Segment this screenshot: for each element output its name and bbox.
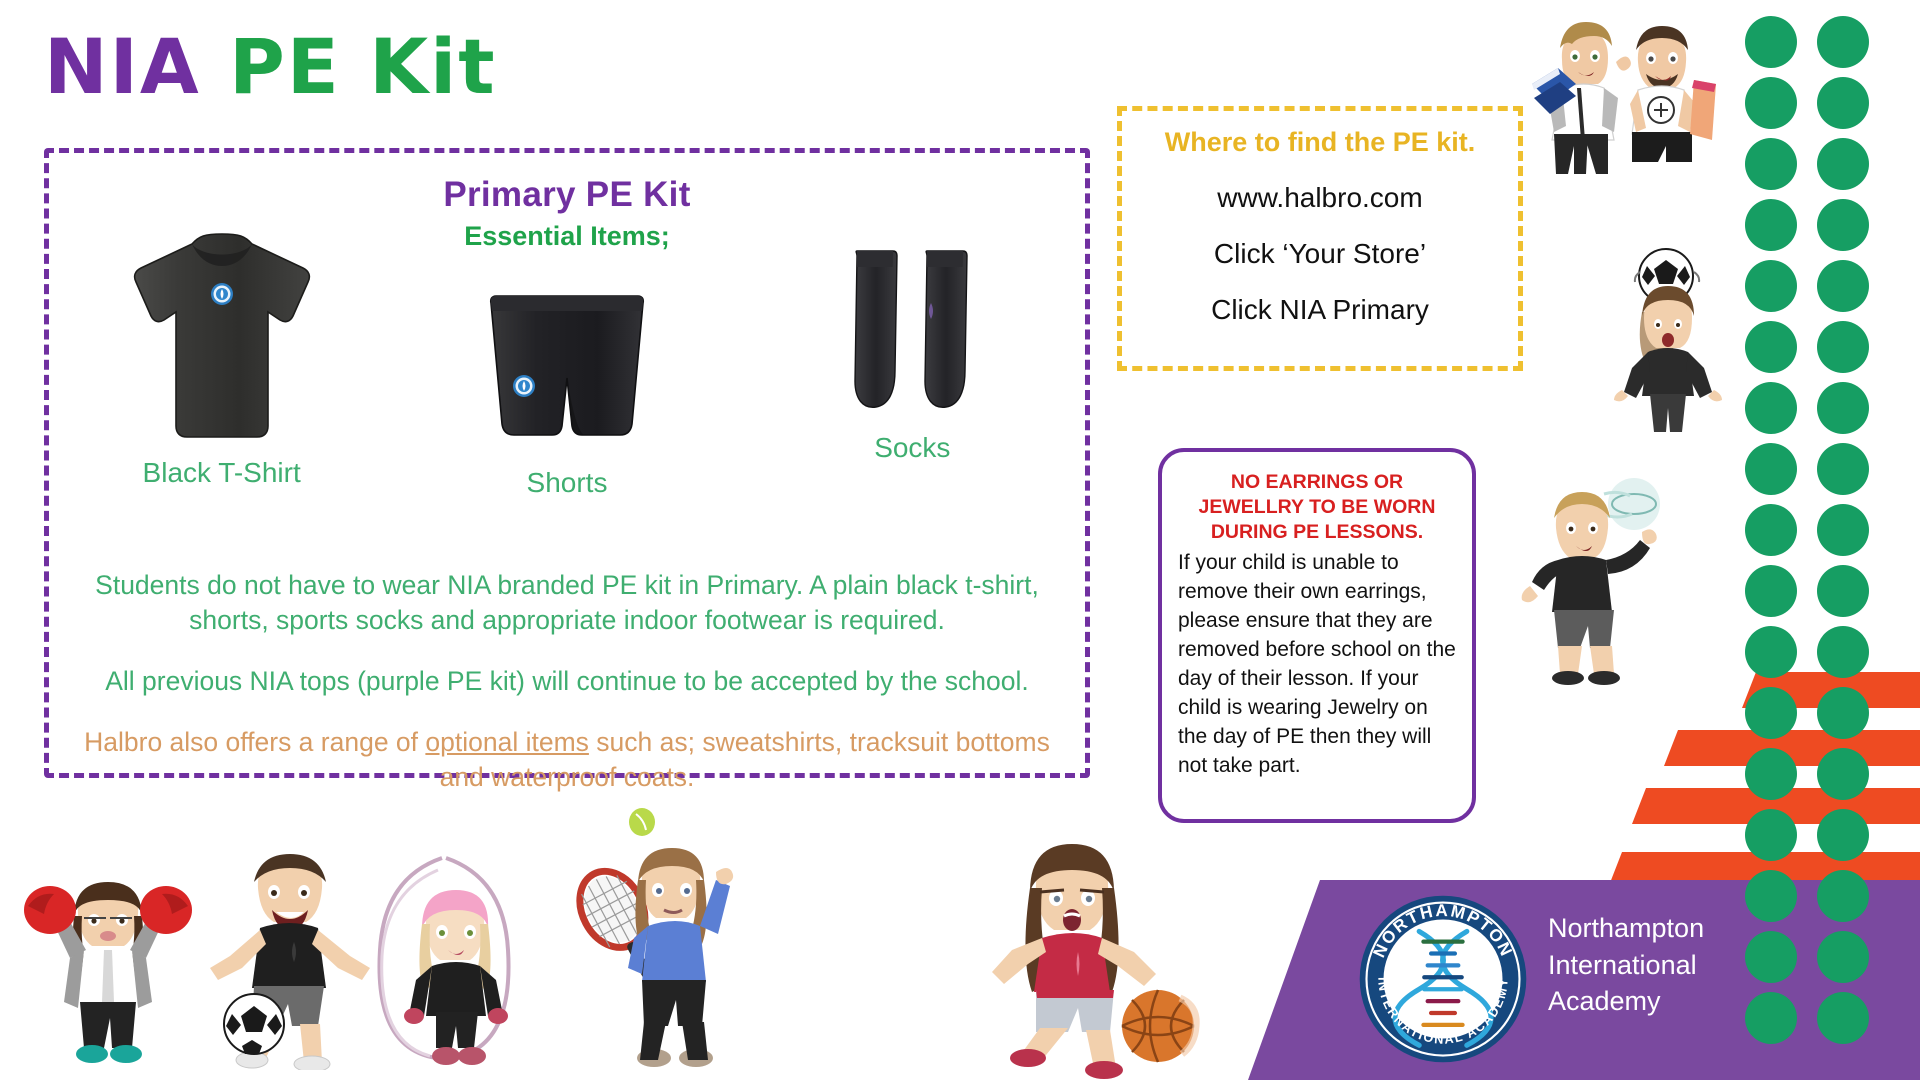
page-title-nia: NIA — [44, 22, 201, 111]
green-dot — [1817, 748, 1869, 800]
bitmoji-football-boy — [196, 838, 386, 1070]
green-dot — [1817, 809, 1869, 861]
footer-name-line-1: Northampton — [1548, 910, 1704, 947]
green-dot — [1817, 321, 1869, 373]
green-dot — [1817, 77, 1869, 129]
green-dot — [1745, 992, 1797, 1044]
nia-logo-icon: NORTHAMPTON INTERNATIONAL ACADEMY — [1358, 894, 1528, 1064]
where-to-find-panel: Where to find the PE kit. www.halbro.com… — [1117, 106, 1523, 371]
green-dot-grid-decor — [1745, 16, 1885, 1056]
green-dot — [1817, 931, 1869, 983]
green-dot — [1745, 809, 1797, 861]
footer-brand-name: Northampton International Academy — [1548, 910, 1704, 1020]
shorts-icon — [417, 215, 717, 455]
jewellery-notice-body: If your child is unable to remove their … — [1178, 549, 1456, 781]
where-to-find-url[interactable]: www.halbro.com — [1122, 182, 1518, 214]
green-dot — [1745, 626, 1797, 678]
socks-icon — [762, 215, 1062, 420]
jewellery-notice-panel: NO EARRINGS OR JEWELLRY TO BE WORN DURIN… — [1158, 448, 1476, 823]
bitmoji-header-football — [1604, 246, 1724, 434]
kit-paragraph-optional: Halbro also offers a range of optional i… — [77, 725, 1057, 795]
optional-items-link[interactable]: optional items — [425, 727, 589, 757]
page-title-pe: PE Kit — [229, 22, 496, 111]
green-dot — [1817, 199, 1869, 251]
page-title: NIA PE Kit — [44, 22, 497, 111]
green-dot — [1817, 504, 1869, 556]
primary-pe-kit-panel: Primary PE Kit Essential Items; — [44, 148, 1090, 778]
green-dot — [1817, 260, 1869, 312]
tshirt-icon — [72, 215, 372, 445]
green-dot — [1745, 687, 1797, 739]
bitmoji-throwing-ball — [1516, 470, 1676, 690]
tshirt-svg — [127, 230, 317, 445]
green-dot — [1745, 504, 1797, 556]
green-dot — [1817, 992, 1869, 1044]
where-to-find-step-1: Click ‘Your Store’ — [1122, 238, 1518, 270]
green-dot — [1817, 687, 1869, 739]
bitmoji-two-teachers — [1518, 4, 1718, 176]
green-dot — [1745, 260, 1797, 312]
kit-item-caption: Socks — [762, 432, 1062, 464]
green-dot — [1817, 16, 1869, 68]
green-dot — [1745, 77, 1797, 129]
bitmoji-boxing-girl — [18, 862, 198, 1072]
kit-paragraph: Students do not have to wear NIA branded… — [77, 568, 1057, 638]
green-dot — [1745, 931, 1797, 983]
bitmoji-basketball-girl — [970, 812, 1200, 1080]
kit-paragraphs: Students do not have to wear NIA branded… — [77, 568, 1057, 821]
kit-item-caption: Black T-Shirt — [72, 457, 372, 489]
bitmoji-skipping-girl — [366, 820, 526, 1070]
green-dot — [1817, 626, 1869, 678]
green-dot — [1817, 138, 1869, 190]
green-dot — [1817, 870, 1869, 922]
green-dot — [1745, 565, 1797, 617]
jewellery-notice-heading: NO EARRINGS OR JEWELLRY TO BE WORN DURIN… — [1178, 470, 1456, 545]
shorts-svg — [482, 290, 652, 455]
green-dot — [1745, 16, 1797, 68]
kit-paragraph: All previous NIA tops (purple PE kit) wi… — [77, 664, 1057, 699]
kit-item-caption: Shorts — [417, 467, 717, 499]
green-dot — [1817, 382, 1869, 434]
where-to-find-step-2: Click NIA Primary — [1122, 294, 1518, 326]
green-dot — [1745, 748, 1797, 800]
green-dot — [1817, 443, 1869, 495]
green-dot — [1745, 321, 1797, 373]
green-dot — [1745, 443, 1797, 495]
green-dot — [1745, 138, 1797, 190]
bitmoji-tennis-girl — [556, 800, 756, 1080]
green-dot — [1817, 565, 1869, 617]
kit-item-black-tshirt: Black T-Shirt — [72, 215, 372, 489]
green-dot — [1745, 199, 1797, 251]
kit-item-shorts: Shorts — [417, 215, 717, 499]
kit-item-socks: Socks — [762, 215, 1062, 464]
where-to-find-title: Where to find the PE kit. — [1122, 127, 1518, 158]
green-dot — [1745, 382, 1797, 434]
green-dot — [1745, 870, 1797, 922]
kit-heading: Primary PE Kit — [49, 175, 1085, 215]
footer-name-line-3: Academy — [1548, 983, 1704, 1020]
optional-before: Halbro also offers a range of — [84, 727, 425, 757]
footer-name-line-2: International — [1548, 947, 1704, 984]
socks-svg — [847, 245, 977, 420]
kit-items-row: Black T-Shirt — [49, 215, 1085, 545]
